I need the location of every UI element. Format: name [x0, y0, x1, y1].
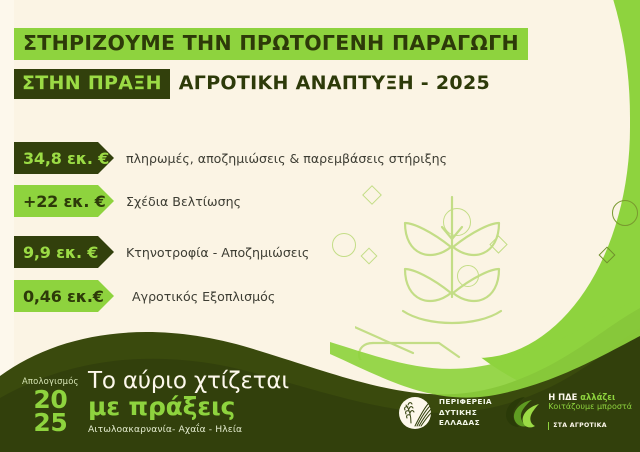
campaign-text: Η ΠΔΕ αλλάζει Κοιτάζουμε μπροστά ΣΤΑ ΑΓΡ… — [548, 392, 632, 433]
figure-label: πληρωμές, αποζημιώσεις & παρεμβάσεις στή… — [126, 151, 447, 166]
header-block: ΣΤΗΡΙΖΟΥΜΕ ΤΗΝ ΠΡΩΤΟΓΕΝΗ ΠΑΡΑΓΩΓΗ ΣΤΗΝ Π… — [14, 28, 528, 99]
year-badge: Απολογισμός 20 25 — [22, 377, 79, 434]
slogan-block: Το αύριο χτίζεται με πράξεις Αιτωλοακαρν… — [88, 370, 289, 434]
headline-secondary-row: ΣΤΗΝ ΠΡΑΞΗ ΑΓΡΟΤΙΚΗ ΑΝΑΠΤΥΞΗ - 2025 — [14, 69, 528, 99]
year-bottom: 25 — [22, 411, 79, 434]
campaign-line-2: Κοιτάζουμε μπροστά — [548, 402, 632, 412]
figure-row: 9,9 εκ. € Κτηνοτροφία - Αποζημιώσεις — [14, 235, 614, 269]
figure-label: Αγροτικός Εξοπλισμός — [132, 289, 275, 304]
amount-badge: 9,9 εκ. € — [14, 236, 114, 268]
region-logo-text: ΠΕΡΙΦΕΡΕΙΑ ΔΥΤΙΚΗΣ ΕΛΛΑΔΑΣ — [439, 397, 492, 429]
slogan-line-2: με πράξεις — [88, 394, 289, 420]
region-name-line-3: ΕΛΛΑΔΑΣ — [439, 418, 492, 429]
campaign-line-1: Η ΠΔΕ αλλάζει — [548, 392, 632, 403]
deco-circle-icon — [612, 200, 638, 226]
headline-subtitle: ΑΓΡΟΤΙΚΗ ΑΝΑΠΤΥΞΗ - 2025 — [179, 74, 490, 93]
amount-badge: 34,8 εκ. € — [14, 142, 114, 174]
region-name-line-2: ΔΥΤΙΚΗΣ — [439, 408, 492, 419]
headline-primary: ΣΤΗΡΙΖΟΥΜΕ ΤΗΝ ΠΡΩΤΟΓΕΝΗ ΠΑΡΑΓΩΓΗ — [14, 28, 528, 60]
headline-chip: ΣΤΗΝ ΠΡΑΞΗ — [14, 69, 170, 99]
infographic-poster: ΣΤΗΡΙΖΟΥΜΕ ΤΗΝ ΠΡΩΤΟΓΕΝΗ ΠΑΡΑΓΩΓΗ ΣΤΗΝ Π… — [0, 0, 640, 452]
footer-block: Απολογισμός 20 25 Το αύριο χτίζεται με π… — [0, 332, 640, 452]
regions-label: Αιτωλοακαρνανία- Αχαΐα - Ηλεία — [88, 425, 289, 434]
amount-badge: 0,46 εκ.€ — [14, 280, 114, 312]
figure-label: Κτηνοτροφία - Αποζημιώσεις — [126, 245, 309, 260]
campaign-logo: Η ΠΔΕ αλλάζει Κοιτάζουμε μπροστά ΣΤΑ ΑΓΡ… — [505, 392, 632, 433]
figures-list: 34,8 εκ. € πληρωμές, αποζημιώσεις & παρε… — [14, 141, 614, 322]
amount-badge: +22 εκ. € — [14, 185, 114, 217]
figure-row: 34,8 εκ. € πληρωμές, αποζημιώσεις & παρε… — [14, 141, 614, 175]
slogan-line-1: Το αύριο χτίζεται — [88, 370, 289, 393]
wheat-emblem-icon — [398, 396, 432, 430]
campaign-line-1b: αλλάζει — [580, 392, 615, 402]
region-name-line-1: ΠΕΡΙΦΕΡΕΙΑ — [439, 397, 492, 408]
figure-label: Σχέδια Βελτίωσης — [126, 194, 241, 209]
campaign-line-1a: Η ΠΔΕ — [548, 392, 580, 402]
campaign-line-3: ΣΤΑ ΑΓΡΟΤΙΚΑ — [548, 422, 607, 430]
figure-row: 0,46 εκ.€ Αγροτικός Εξοπλισμός — [14, 279, 614, 313]
leaf-swoosh-icon — [505, 395, 541, 429]
figure-row: +22 εκ. € Σχέδια Βελτίωσης — [14, 184, 614, 218]
region-logo: ΠΕΡΙΦΕΡΕΙΑ ΔΥΤΙΚΗΣ ΕΛΛΑΔΑΣ — [398, 396, 492, 430]
